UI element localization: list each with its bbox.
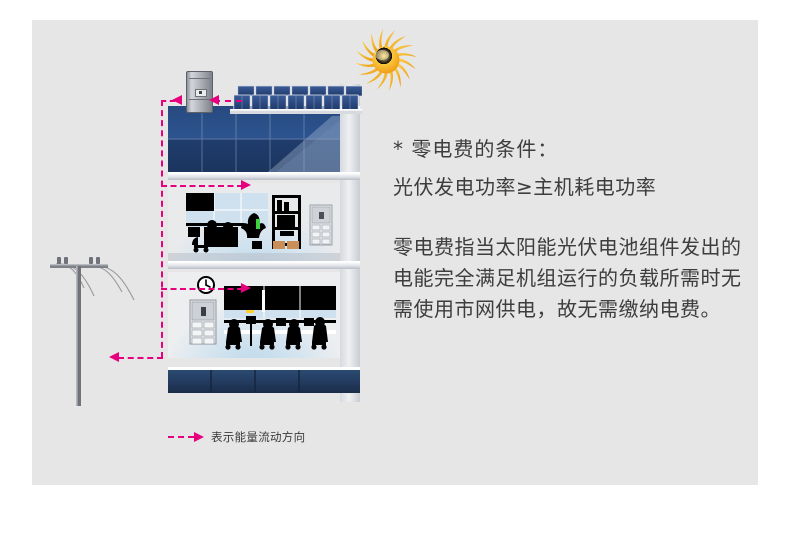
flow-bus-top — [161, 100, 175, 102]
ground-floor-meeting-room — [168, 272, 340, 358]
explanatory-text-block: * 零电费的条件： 光伏发电功率≥主机耗电功率 零电费指当太阳能光伏电池组件发出… — [393, 134, 743, 325]
condition-formula: 光伏发电功率≥主机耗电功率 — [393, 172, 743, 202]
flow-arrow-floor3 — [241, 180, 251, 190]
description-paragraph: 零电费指当太阳能光伏电池组件发出的电能完全满足机组运行的负载所需时无需使用市网供… — [393, 232, 745, 325]
flow-branch-floor3 — [161, 185, 243, 187]
condition-heading-line1: * 零电费的条件： — [393, 134, 743, 164]
diagram-canvas: 表示能量流动方向 * 零电费的条件： 光伏发电功率≥主机耗电功率 零电费指当太阳… — [0, 0, 790, 555]
legend-arrow-icon — [194, 432, 204, 442]
flow-vertical-bus — [161, 100, 163, 358]
legend-dashed-line — [168, 436, 194, 438]
flow-arrow-floor2 — [241, 283, 251, 293]
flow-branch-to-grid — [118, 357, 163, 359]
office-building — [168, 84, 360, 402]
photovoltaic-panel-array — [230, 82, 362, 116]
flow-branch-floor2 — [161, 288, 243, 290]
flow-arrow-solar-to-inverter — [209, 95, 219, 105]
building-plinth — [168, 367, 360, 393]
sun-icon — [352, 26, 420, 94]
legend-label: 表示能量流动方向 — [211, 429, 305, 445]
middle-floor-office — [168, 183, 340, 261]
floor-slab-3 — [168, 172, 360, 180]
inverter-cabinet — [186, 71, 213, 113]
floor-slab-2 — [168, 261, 360, 269]
legend: 表示能量流动方向 — [168, 429, 305, 445]
flow-arrow-to-grid — [109, 352, 119, 362]
building-right-wall — [340, 84, 360, 402]
utility-pole — [46, 248, 166, 408]
